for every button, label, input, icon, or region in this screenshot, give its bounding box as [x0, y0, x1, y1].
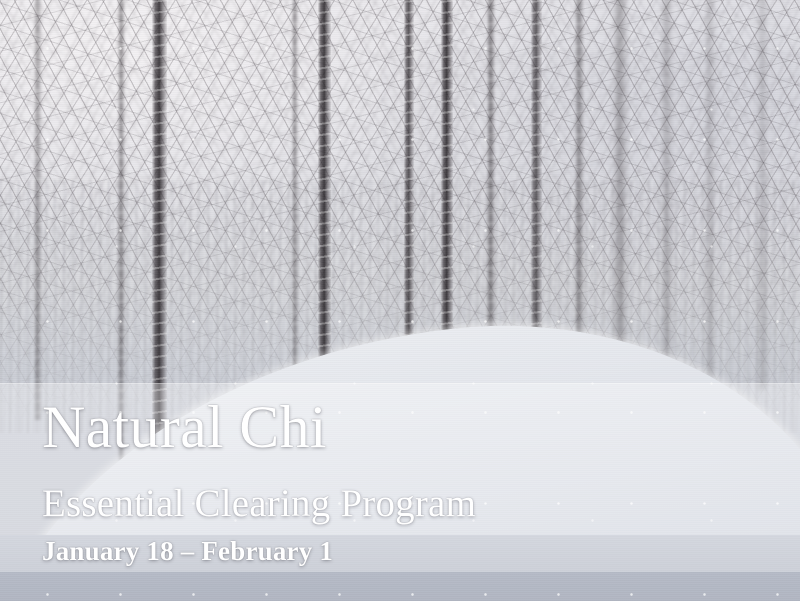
slide-subtitle: Essential Clearing Program: [42, 482, 782, 526]
title-slide: Natural Chi Essential Clearing Program J…: [0, 0, 800, 601]
slide-title: Natural Chi: [42, 396, 782, 458]
slide-date-range: January 18 – February 1: [42, 536, 782, 567]
caption-text-block: Natural Chi Essential Clearing Program J…: [42, 396, 782, 567]
